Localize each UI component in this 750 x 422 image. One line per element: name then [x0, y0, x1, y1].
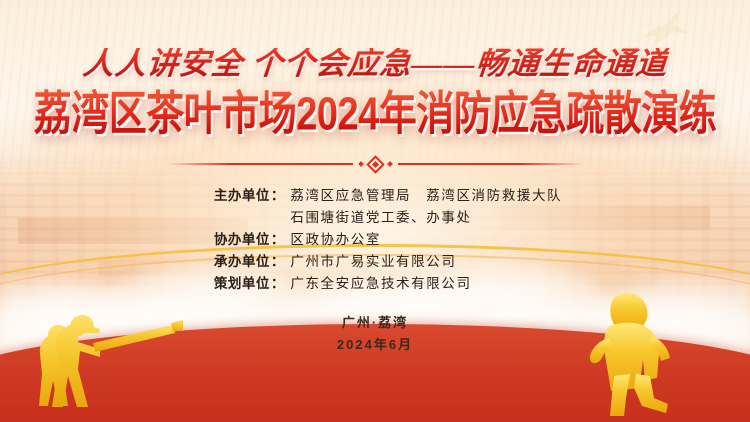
- organizer-row: 策划单位：广东全安应急技术有限公司: [188, 272, 562, 292]
- organizer-row: 主办单位：荔湾区应急管理局 荔湾区消防救援大队: [188, 184, 562, 204]
- organizer-value: 荔湾区应急管理局 荔湾区消防救援大队: [290, 184, 562, 204]
- poster-content: 人人讲安全 个个会应急——畅通生命通道 荔湾区茶叶市场2024年消防应急疏散演练…: [0, 0, 750, 422]
- decorative-divider: [165, 158, 585, 171]
- organizer-row: 主办单位：石围塘街道党工委、办事处: [188, 206, 562, 226]
- organizer-value: 区政协办公室: [290, 228, 381, 248]
- fire-drill-poster: 人人讲安全 个个会应急——畅通生命通道 荔湾区茶叶市场2024年消防应急疏散演练…: [0, 0, 750, 422]
- organizer-row: 承办单位：广州市广易实业有限公司: [188, 250, 562, 270]
- divider-dot-icon: [358, 161, 364, 167]
- organizer-colon: ：: [270, 228, 291, 248]
- organizer-colon: ：: [270, 272, 291, 292]
- organizer-label: 承办单位: [188, 250, 270, 270]
- organizer-row: 协办单位：区政协办公室: [188, 228, 562, 248]
- divider-dot-icon: [387, 161, 393, 167]
- divider-line-left: [165, 163, 353, 165]
- slogan-text: 人人讲安全 个个会应急——畅通生命通道: [81, 48, 668, 79]
- organizer-list: 主办单位：荔湾区应急管理局 荔湾区消防救援大队主办单位：石围塘街道党工委、办事处…: [188, 184, 562, 292]
- organizer-label: 策划单位: [188, 272, 270, 292]
- organizer-label: 主办单位: [188, 184, 270, 204]
- organizer-colon: ：: [270, 250, 291, 270]
- organizer-colon: ：: [270, 184, 291, 204]
- event-date: 2024年6月: [337, 334, 413, 357]
- diamond-ornament-icon: [366, 155, 384, 173]
- divider-line-right: [398, 163, 586, 165]
- page-title: 荔湾区茶叶市场2024年消防应急疏散演练: [34, 89, 717, 141]
- organizer-value: 石围塘街道党工委、办事处: [290, 206, 471, 226]
- organizer-label: 协办单位: [188, 228, 270, 248]
- event-location: 广州·荔湾: [337, 312, 413, 335]
- organizer-value: 广州市广易实业有限公司: [290, 250, 456, 270]
- event-meta: 广州·荔湾 2024年6月: [337, 312, 413, 358]
- organizer-value: 广东全安应急技术有限公司: [290, 272, 471, 292]
